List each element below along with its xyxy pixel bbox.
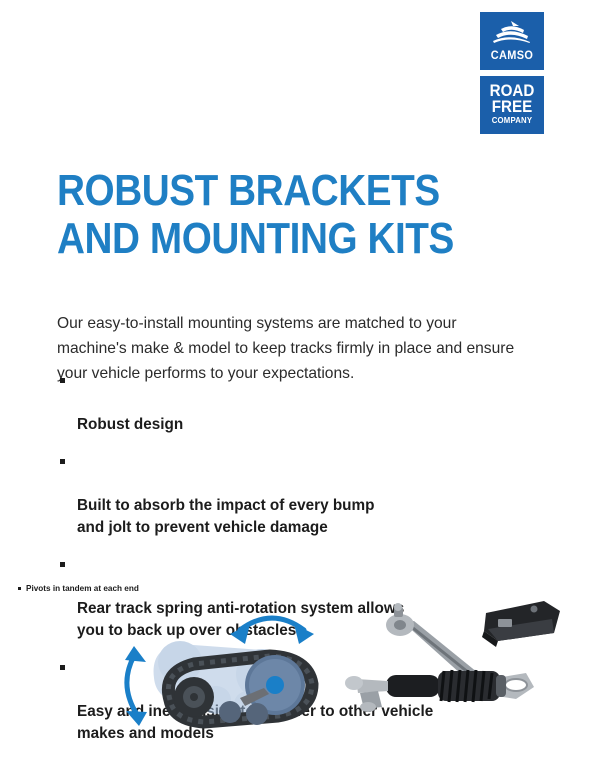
road-free-wordmark: ROAD FREE COMPANY (480, 83, 544, 125)
bullet-square-icon (60, 459, 65, 464)
mid-roller (219, 701, 241, 723)
track-diagram-svg (112, 600, 342, 735)
list-item-label: Robust design (77, 416, 183, 433)
road-free-company-logo[interactable]: ROAD FREE COMPANY (480, 76, 544, 134)
mounting-bracket (482, 601, 560, 647)
camso-logo[interactable]: CAMSO (480, 12, 544, 70)
mid-roller (246, 703, 268, 725)
arrow-head-up (125, 646, 146, 662)
list-item-label: Built to absorb the impact of every bump… (77, 497, 374, 536)
page-title: ROBUST BRACKETS AND MOUNTING KITS (57, 167, 454, 263)
list-item: Built to absorb the impact of every bump… (58, 451, 528, 539)
rubber-track-system-diagram (112, 600, 342, 735)
footnote: Pivots in tandem at each end (18, 583, 139, 594)
road-free-line1: ROAD (483, 83, 542, 99)
camso-chevron-mark (493, 21, 531, 43)
bullet-square-icon (18, 587, 21, 590)
list-item: Robust design (58, 370, 528, 436)
vertical-motion-arrow (127, 656, 138, 716)
road-free-line2: FREE (483, 99, 542, 115)
bullet-square-icon (60, 378, 65, 383)
illustration-row (0, 595, 600, 735)
hardware-svg (338, 595, 568, 720)
coil-spring (438, 670, 506, 702)
footnote-label: Pivots in tandem at each end (26, 584, 139, 593)
bracket-hardware-photo (338, 595, 568, 720)
road-free-line3: COMPANY (482, 117, 543, 125)
camso-wordmark: CAMSO (482, 51, 543, 63)
idler-wheel (174, 677, 214, 717)
arrow-head-down (126, 711, 147, 726)
bullet-square-icon (60, 562, 65, 567)
logo-stack: CAMSO ROAD FREE COMPANY (480, 12, 544, 134)
rotation-motion-arrow (240, 618, 304, 630)
spring-shock-assembly (345, 670, 506, 712)
